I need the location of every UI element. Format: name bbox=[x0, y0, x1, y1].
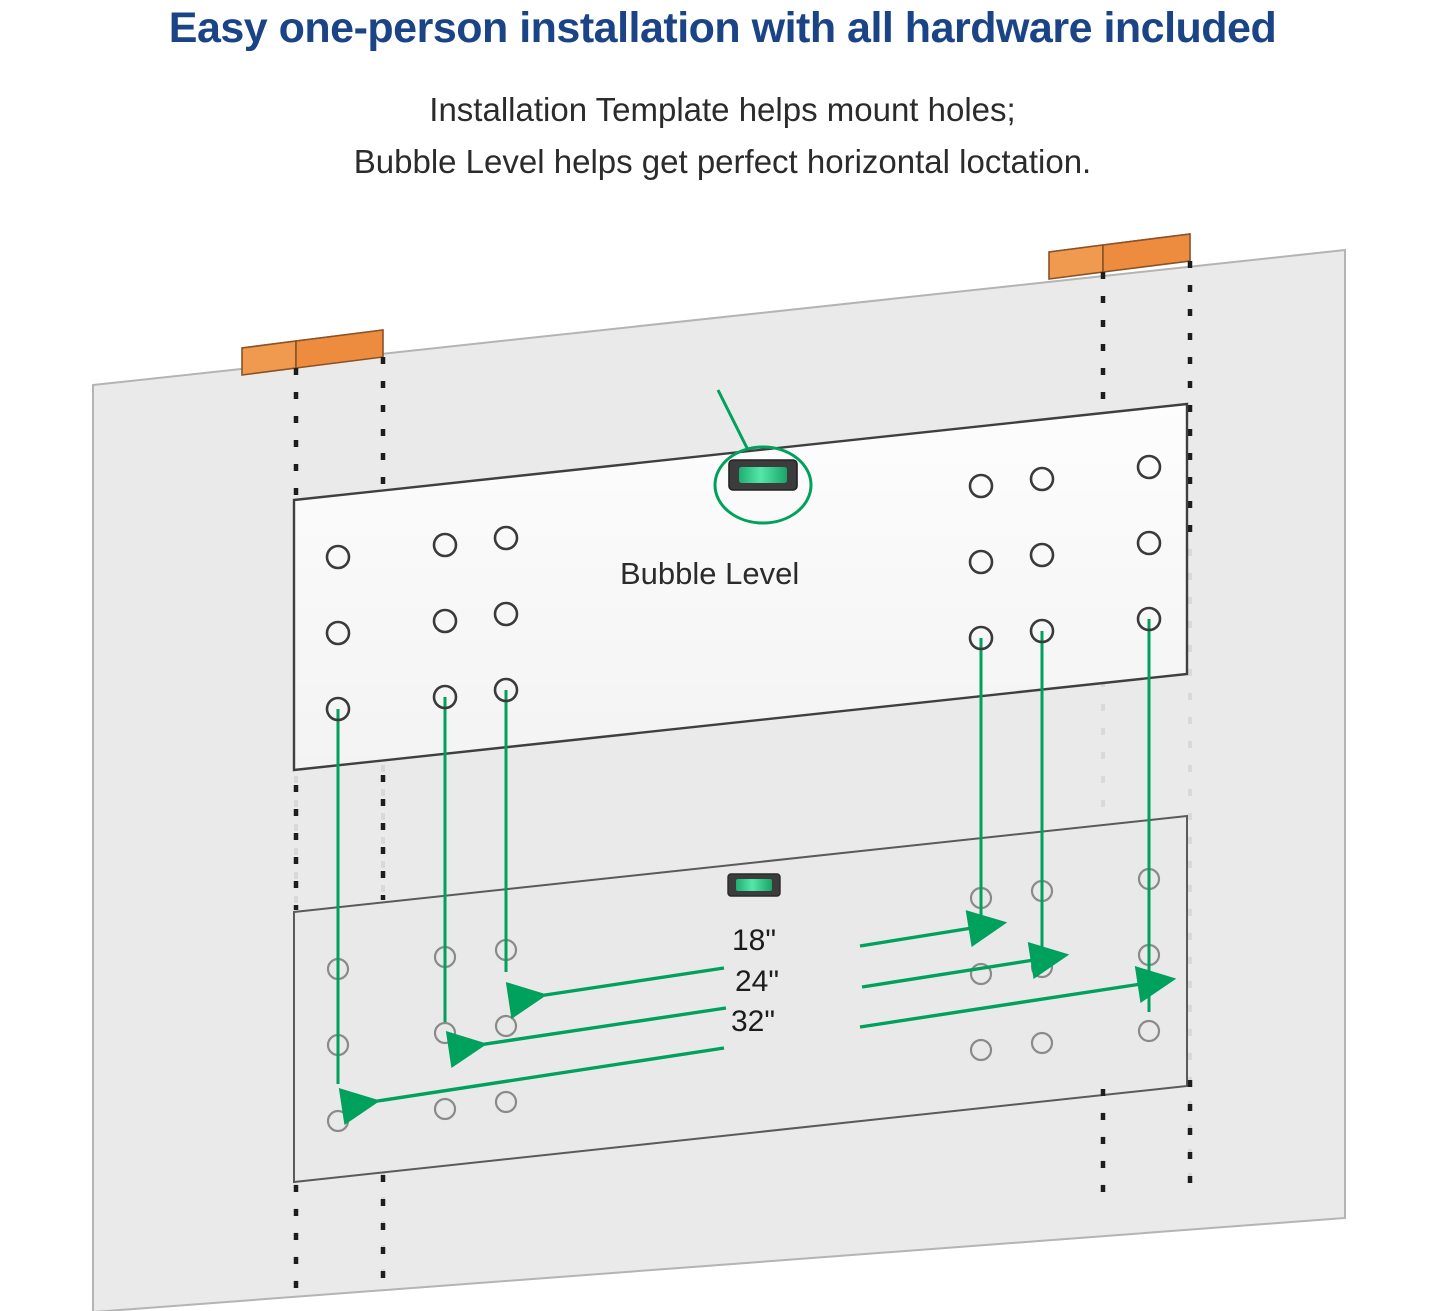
page-title: Easy one-person installation with all ha… bbox=[0, 4, 1445, 53]
bubble-level-indicator bbox=[729, 460, 797, 490]
bubble-level-indicator-rear bbox=[728, 874, 780, 896]
dimension-label-32: 32" bbox=[731, 1005, 775, 1039]
infographic-root: Easy one-person installation with all ha… bbox=[0, 0, 1445, 1311]
subtitle-line-2: Bubble Level helps get perfect horizonta… bbox=[0, 136, 1445, 188]
installation-diagram: Bubble Level 18" 24" 32" bbox=[0, 200, 1445, 1311]
subtitle-line-1: Installation Template helps mount holes; bbox=[0, 84, 1445, 136]
subtitle-block: Installation Template helps mount holes;… bbox=[0, 84, 1445, 188]
bubble-level-callout-label: Bubble Level bbox=[620, 556, 799, 592]
dimension-label-24: 24" bbox=[735, 965, 779, 999]
dimension-label-18: 18" bbox=[732, 924, 776, 958]
